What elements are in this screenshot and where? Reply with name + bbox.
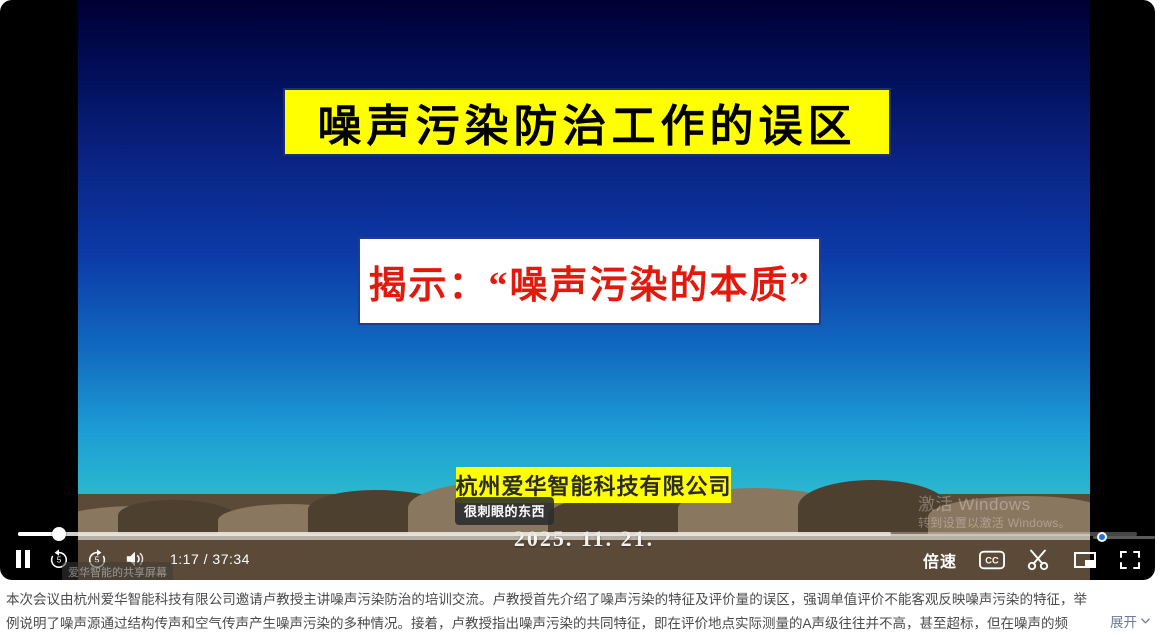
- expand-label: 展开: [1110, 611, 1137, 631]
- svg-text:5: 5: [57, 556, 62, 565]
- description-text: 本次会议由杭州爱华智能科技有限公司邀请卢教授主讲噪声污染防治的培训交流。卢教授首…: [6, 588, 1153, 636]
- share-screen-watermark: 爱华智能的共享屏幕: [62, 562, 173, 580]
- hover-tooltip: 很刺眼的东西: [455, 497, 554, 525]
- page-title: 噪声污染防治工作的误区: [318, 90, 857, 154]
- picture-in-picture-icon[interactable]: [1073, 550, 1097, 570]
- controls-right-group: 倍速 CC: [923, 548, 1141, 572]
- slide-title-box: 噪声污染防治工作的误区: [283, 88, 891, 156]
- player-controls[interactable]: 5 5 1:17 / 37:34 爱华智能的: [0, 524, 1155, 580]
- svg-text:CC: CC: [985, 556, 999, 566]
- fullscreen-icon[interactable]: [1119, 550, 1141, 570]
- video-description-panel: 本次会议由杭州爱华智能科技有限公司邀请卢教授主讲噪声污染防治的培训交流。卢教授首…: [0, 586, 1161, 637]
- seek-buffered: [18, 532, 891, 536]
- expand-description-button[interactable]: 展开: [1100, 611, 1151, 631]
- seek-handle[interactable]: [52, 527, 66, 541]
- page-zoom-slider[interactable]: [1093, 530, 1155, 544]
- pause-button[interactable]: [14, 549, 32, 569]
- scissors-icon[interactable]: [1027, 549, 1051, 571]
- slide-subtitle-box: 揭示：“噪声污染的本质”: [358, 237, 821, 325]
- video-player[interactable]: 噪声污染防治工作的误区 揭示：“噪声污染的本质” 杭州爱华智能科技有限公司 20…: [0, 0, 1155, 580]
- watermark-title: 激活 Windows: [918, 494, 1071, 515]
- slider-knob[interactable]: [1097, 532, 1107, 542]
- chevron-down-icon: [1140, 614, 1151, 629]
- seek-bar[interactable]: [18, 532, 1137, 536]
- captions-cc-icon[interactable]: CC: [979, 550, 1005, 570]
- time-display: 1:17 / 37:34: [170, 551, 250, 567]
- slide-subtitle: 揭示：“噪声污染的本质”: [368, 254, 810, 309]
- video-canvas[interactable]: 噪声污染防治工作的误区 揭示：“噪声污染的本质” 杭州爱华智能科技有限公司 20…: [78, 0, 1090, 580]
- playback-speed-button[interactable]: 倍速: [923, 548, 957, 572]
